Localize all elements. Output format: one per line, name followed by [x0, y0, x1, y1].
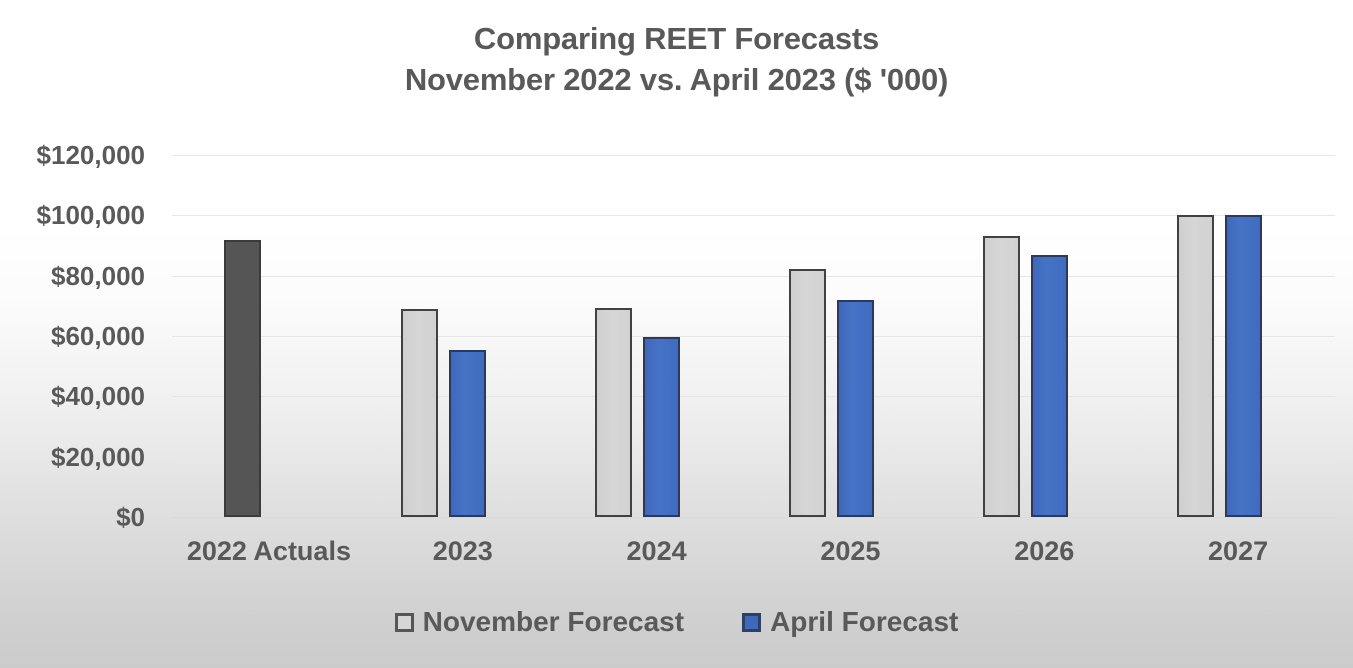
y-tick-label-20000: $20,000 [0, 444, 145, 470]
bar-november-forecast-2027 [1177, 215, 1214, 517]
x-axis-label-2026: 2026 [947, 534, 1141, 568]
bar-april-forecast-2025 [837, 300, 874, 517]
bar-april-forecast-2027 [1225, 215, 1262, 517]
y-tick-label-100000: $100,000 [0, 202, 145, 228]
bar-april-forecast-2024 [643, 337, 680, 517]
bar-november-forecast-2025 [789, 269, 826, 517]
y-tick-label-60000: $60,000 [0, 323, 145, 349]
bars-layer [172, 150, 1335, 522]
legend-swatch-november-icon [395, 613, 414, 632]
chart-slide: Comparing REET Forecasts November 2022 v… [0, 0, 1353, 668]
legend-label-november: November Forecast [423, 606, 684, 638]
legend-item-november[interactable]: November Forecast [395, 606, 684, 638]
bar-november-forecast-2026 [983, 236, 1020, 517]
x-axis-label-2027: 2027 [1141, 534, 1335, 568]
x-axis-label-2024: 2024 [560, 534, 754, 568]
chart-legend: November ForecastApril Forecast [0, 606, 1353, 638]
y-tick-label-80000: $80,000 [0, 263, 145, 289]
bar-april-forecast-2026 [1031, 255, 1068, 517]
y-tick-label-40000: $40,000 [0, 383, 145, 409]
chart-title-line-1: Comparing REET Forecasts [0, 18, 1353, 59]
x-axis-label-2023: 2023 [366, 534, 560, 568]
y-tick-label-0: $0 [0, 504, 145, 530]
bar-november-forecast-2024 [595, 308, 632, 517]
bar-november-forecast-2023 [401, 309, 438, 517]
x-axis-category-labels: 2022 Actuals20232024202520262027 [172, 534, 1335, 578]
x-axis-label-2025: 2025 [754, 534, 948, 568]
legend-label-april: April Forecast [770, 606, 958, 638]
y-tick-label-120000: $120,000 [0, 142, 145, 168]
legend-item-april[interactable]: April Forecast [742, 606, 958, 638]
legend-swatch-april-icon [742, 613, 761, 632]
chart-title-line-2: November 2022 vs. April 2023 ($ '000) [0, 59, 1353, 100]
chart-title: Comparing REET Forecasts November 2022 v… [0, 18, 1353, 100]
x-axis-label-2022-actuals: 2022 Actuals [172, 534, 366, 568]
bar-actuals-2022-actuals [224, 240, 261, 517]
bar-april-forecast-2023 [449, 350, 486, 517]
